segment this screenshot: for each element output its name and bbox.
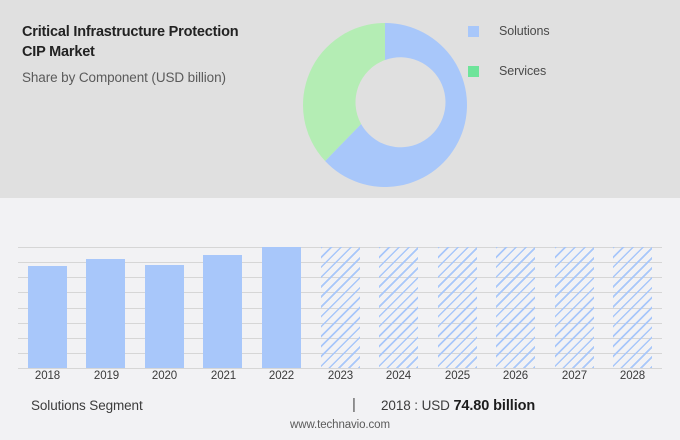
gridline <box>18 368 662 369</box>
bar-2018[interactable] <box>28 266 67 368</box>
bar-forecast-2028[interactable] <box>613 247 652 368</box>
legend-item-solutions[interactable]: Solutions <box>468 11 550 51</box>
x-axis-label-2025: 2025 <box>428 370 487 382</box>
donut-chart-svg <box>299 19 471 191</box>
legend-swatch-icon <box>468 26 479 37</box>
legend: Solutions Services <box>468 11 550 91</box>
footer: Solutions Segment | 2018 : USD 74.80 bil… <box>0 396 680 440</box>
legend-label-solutions: Solutions <box>499 24 550 38</box>
bar-forecast-2027[interactable] <box>555 247 594 368</box>
bar-2020[interactable] <box>145 265 184 368</box>
x-axis-label-2028: 2028 <box>603 370 662 382</box>
footer-url: www.technavio.com <box>0 419 680 431</box>
bar-forecast-2026[interactable] <box>496 247 535 368</box>
x-axis-label-2027: 2027 <box>545 370 604 382</box>
x-axis-label-2018: 2018 <box>18 370 77 382</box>
chart-title-block: Critical Infrastructure Protection CIP M… <box>22 22 322 88</box>
x-axis-label-2021: 2021 <box>194 370 253 382</box>
bar-forecast-2023[interactable] <box>321 247 360 368</box>
legend-item-services[interactable]: Services <box>468 51 550 91</box>
footer-value: 74.80 billion <box>453 398 535 414</box>
chart-subtitle: Share by Component (USD billion) <box>22 68 322 88</box>
donut-chart <box>299 19 471 191</box>
bar-forecast-2024[interactable] <box>379 247 418 368</box>
x-axis-label-2026: 2026 <box>486 370 545 382</box>
footer-segment-label: Solutions Segment <box>31 398 143 413</box>
footer-value-block: 2018 : USD 74.80 billion <box>381 398 535 414</box>
footer-year-label: 2018 : USD <box>381 398 450 413</box>
x-axis-label-2024: 2024 <box>369 370 428 382</box>
x-axis-label-2023: 2023 <box>311 370 370 382</box>
x-axis-label-2019: 2019 <box>77 370 136 382</box>
x-axis-label-2022: 2022 <box>252 370 311 382</box>
bar-forecast-2025[interactable] <box>438 247 477 368</box>
chart-title-line-2: CIP Market <box>22 42 322 62</box>
header-band: Critical Infrastructure Protection CIP M… <box>0 0 680 198</box>
bar-chart-x-axis: 2018201920202021202220232024202520262027… <box>18 370 662 390</box>
x-axis-label-2020: 2020 <box>135 370 194 382</box>
bar-2019[interactable] <box>86 259 125 368</box>
bar-chart-plot-area <box>18 247 662 368</box>
legend-label-services: Services <box>499 64 546 78</box>
bar-2021[interactable] <box>203 255 242 368</box>
footer-divider: | <box>352 396 356 413</box>
bar-2022[interactable] <box>262 247 301 368</box>
chart-title-line-1: Critical Infrastructure Protection <box>22 22 322 42</box>
legend-swatch-icon <box>468 66 479 77</box>
